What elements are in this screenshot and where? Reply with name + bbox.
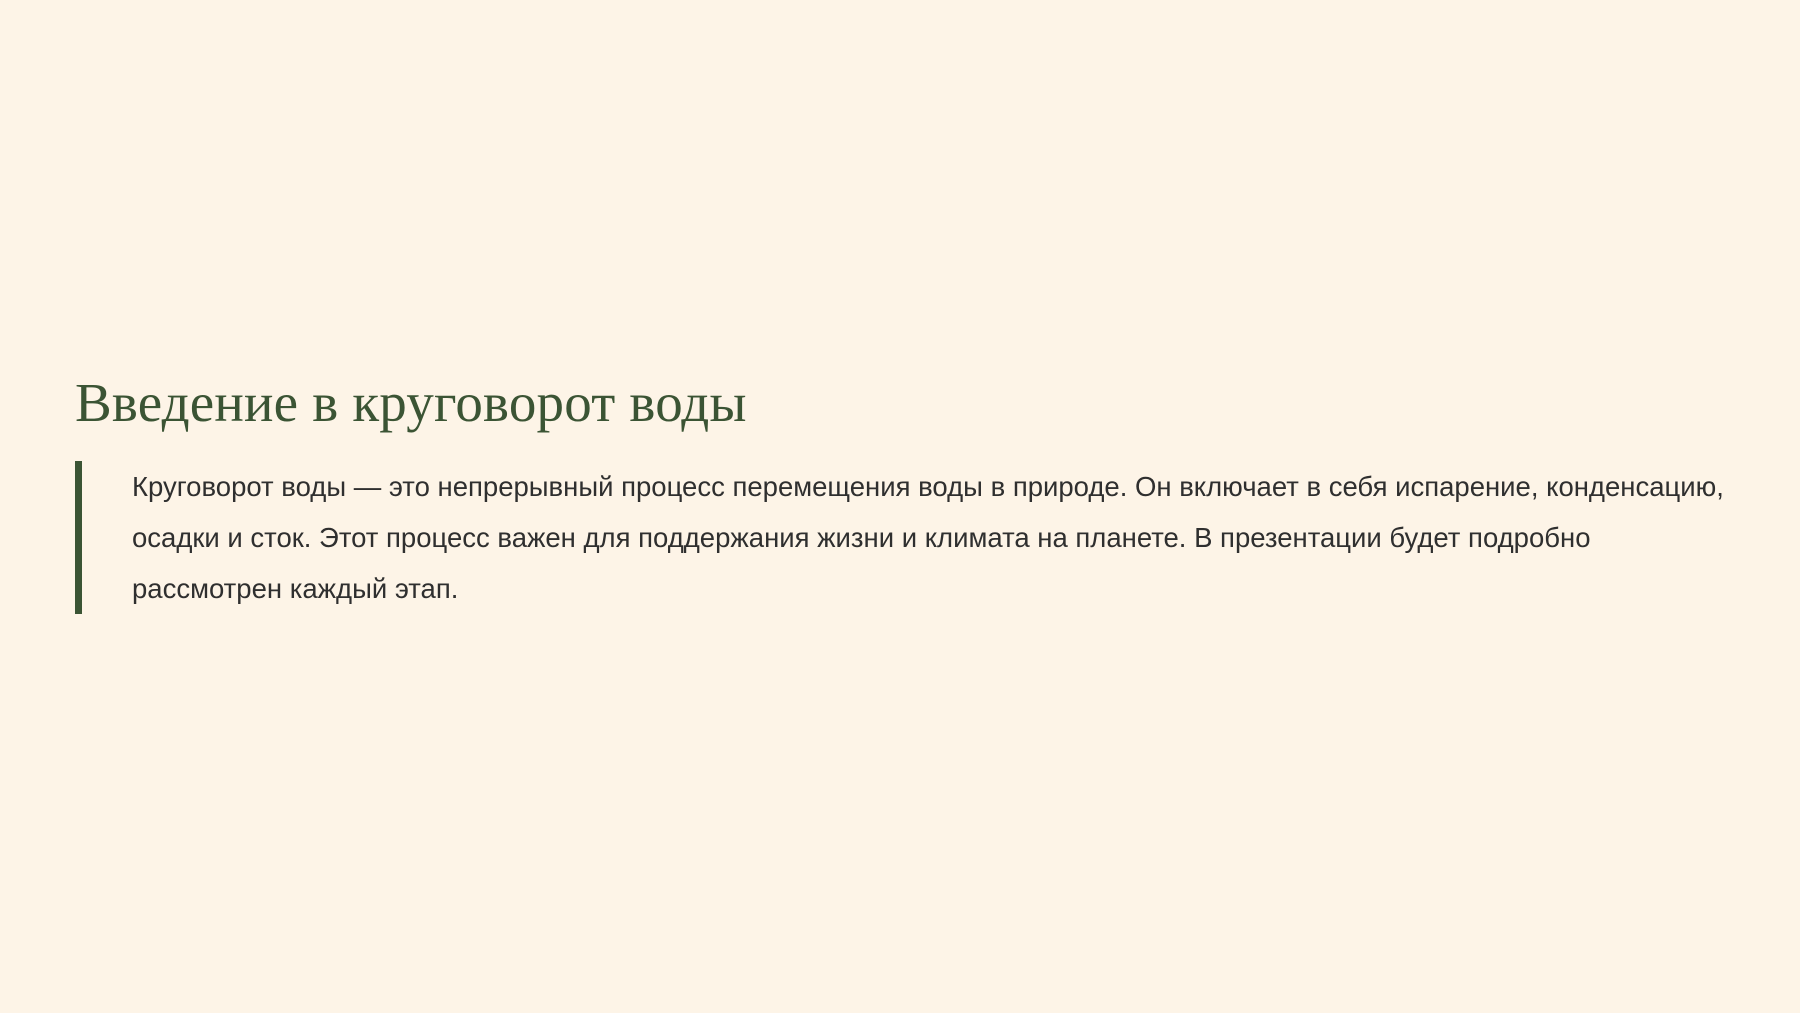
slide-content: Введение в круговорот воды Круговорот во… (75, 372, 1735, 614)
page-title: Введение в круговорот воды (75, 372, 1735, 434)
body-paragraph: Круговорот воды — это непрерывный процес… (132, 461, 1732, 614)
presentation-slide: Введение в круговорот воды Круговорот во… (0, 0, 1800, 1013)
body-callout: Круговорот воды — это непрерывный процес… (75, 461, 1735, 614)
accent-bar (75, 461, 82, 614)
